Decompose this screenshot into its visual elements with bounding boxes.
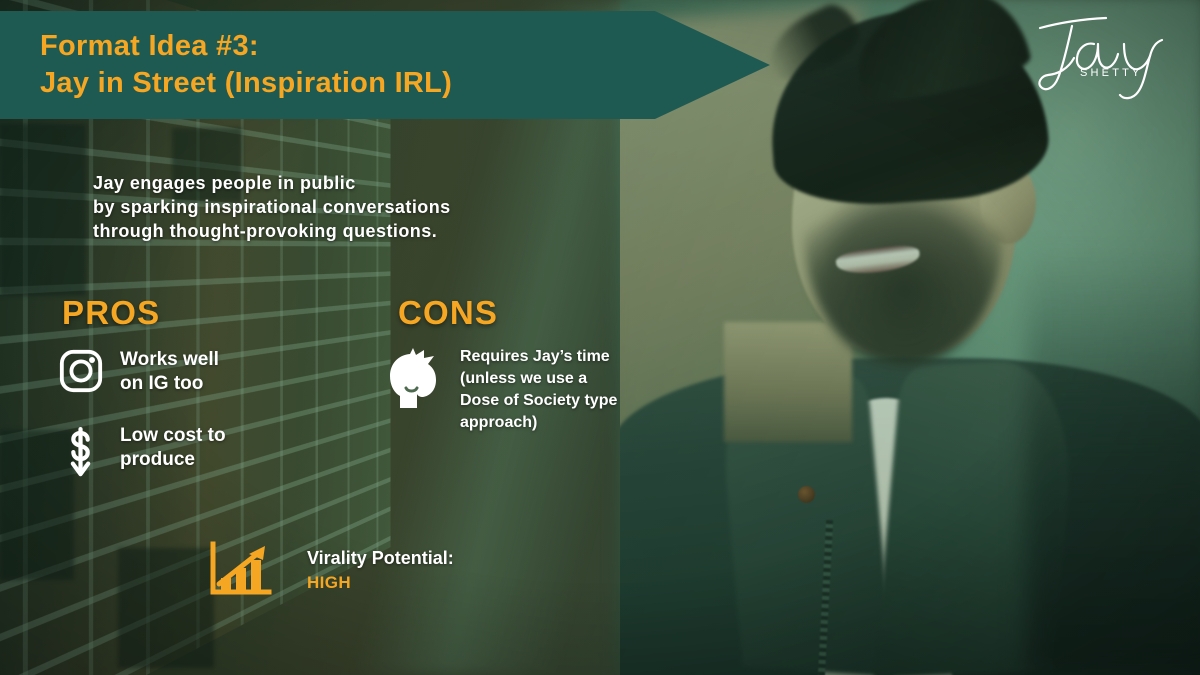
growth-chart-icon — [205, 540, 273, 605]
pros-item-2: Low cost to produce — [58, 424, 226, 491]
pros-item-1-label: Works well on IG too — [120, 348, 219, 397]
logo-subtext: SHETTY — [1080, 67, 1143, 79]
jay-shetty-logo: SHETTY — [1028, 14, 1178, 106]
instagram-icon — [58, 348, 104, 399]
pros-item-1: Works well on IG too — [58, 348, 219, 399]
portrait-shadow-right — [1026, 243, 1200, 675]
slide-canvas: Format Idea #3: Jay in Street (Inspirati… — [0, 0, 1200, 675]
intro-description: Jay engages people in public by sparking… — [93, 172, 451, 244]
pros-item-2-label: Low cost to produce — [120, 424, 226, 473]
virality-text: Virality Potential: HIGH — [307, 540, 454, 593]
jay-wordmark-icon: SHETTY — [1028, 14, 1178, 106]
jacket-button — [798, 486, 815, 503]
page-title: Format Idea #3: Jay in Street (Inspirati… — [40, 28, 452, 102]
cons-heading: CONS — [398, 294, 498, 332]
person-head-icon — [382, 346, 444, 419]
cons-item-1-label: Requires Jay’s time (unless we use a Dos… — [460, 346, 617, 434]
title-banner: Format Idea #3: Jay in Street (Inspirati… — [0, 11, 770, 119]
cons-item-1: Requires Jay’s time (unless we use a Dos… — [382, 346, 617, 434]
virality-value: HIGH — [307, 573, 454, 593]
beard — [806, 190, 1002, 362]
dollar-down-arrow-icon — [58, 424, 104, 491]
virality-label: Virality Potential: — [307, 548, 454, 569]
virality-block: Virality Potential: HIGH — [205, 540, 454, 605]
pros-heading: PROS — [62, 294, 160, 332]
head — [758, 12, 1058, 382]
